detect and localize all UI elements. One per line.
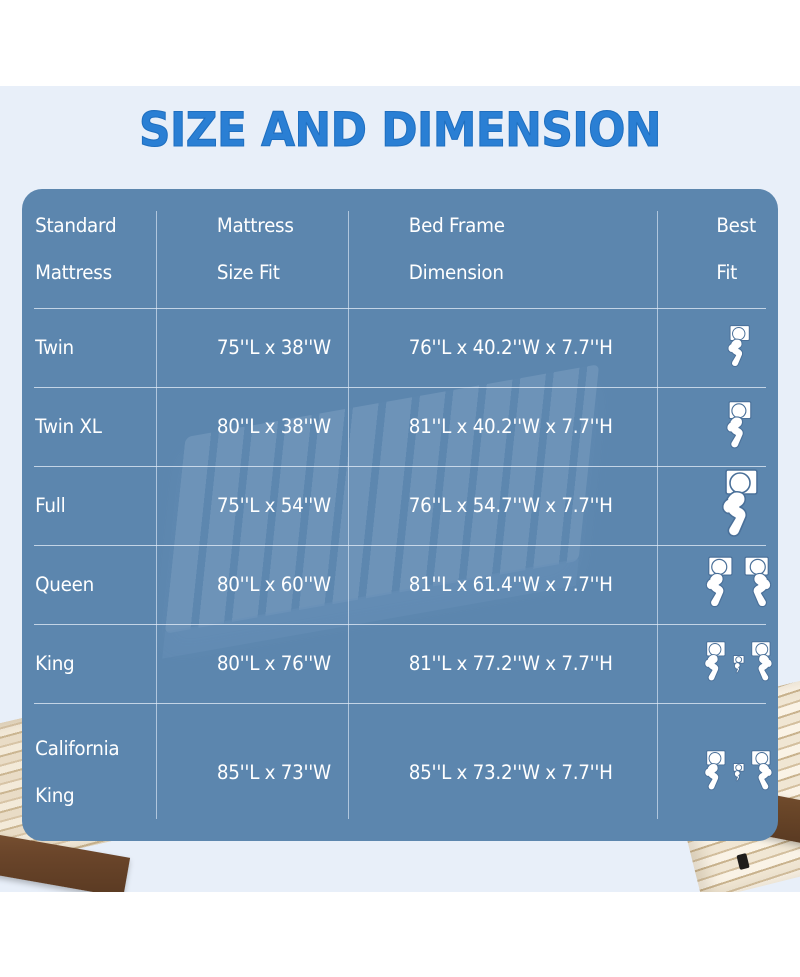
cell-standard-mattress: Twin XL bbox=[22, 387, 189, 466]
one-adult-sleeper-icon bbox=[699, 401, 778, 453]
cell-mattress-size-fit: 80''L x 76''W bbox=[200, 624, 379, 703]
cell-standard-mattress: Full bbox=[22, 466, 189, 545]
adult-sleeper-icon bbox=[699, 629, 730, 697]
column-header-line2: Mattress bbox=[35, 259, 116, 286]
column-header-2: Bed FrameDimension bbox=[390, 189, 680, 308]
cell-standard-mattress: Queen bbox=[22, 545, 189, 624]
adult-sleeper-icon bbox=[739, 549, 778, 619]
cell-bed-frame-dimension: 81''L x 77.2''W x 7.7''H bbox=[390, 624, 680, 703]
mattress-name-line2: King bbox=[35, 782, 119, 809]
cell-standard-mattress: Twin bbox=[22, 308, 189, 387]
cell-best-fit bbox=[699, 545, 778, 624]
cell-bed-frame-dimension: 76''L x 40.2''W x 7.7''H bbox=[390, 308, 680, 387]
adult-sleeper-icon bbox=[713, 469, 765, 543]
bed-frame-dimension-value: 76''L x 54.7''W x 7.7''H bbox=[409, 492, 613, 519]
baby-sleeper-icon bbox=[731, 758, 746, 786]
page-title: SIZE AND DIMENSION bbox=[28, 105, 772, 157]
cell-standard-mattress: King bbox=[22, 624, 189, 703]
cell-bed-frame-dimension: 81''L x 40.2''W x 7.7''H bbox=[390, 387, 680, 466]
bed-frame-dimension-value: 76''L x 40.2''W x 7.7''H bbox=[409, 334, 613, 361]
bed-frame-dimension-value: 81''L x 77.2''W x 7.7''H bbox=[409, 650, 613, 677]
cell-bed-frame-dimension: 85''L x 73.2''W x 7.7''H bbox=[390, 703, 680, 841]
column-header-3: BestFit bbox=[699, 189, 773, 308]
cell-best-fit bbox=[699, 387, 778, 466]
mattress-name: Twin XL bbox=[35, 413, 101, 440]
two-adults-and-baby-sleepers-icon bbox=[699, 738, 778, 806]
cell-mattress-size-fit: 80''L x 60''W bbox=[200, 545, 379, 624]
mattress-size-value: 85''L x 73''W bbox=[217, 759, 331, 786]
column-header-line2: Size Fit bbox=[217, 259, 294, 286]
bed-frame-dimension-value: 85''L x 73.2''W x 7.7''H bbox=[409, 759, 613, 786]
bed-frame-dimension-value: 81''L x 61.4''W x 7.7''H bbox=[409, 571, 613, 598]
column-header-line1: Mattress bbox=[217, 212, 294, 239]
mattress-name: Full bbox=[35, 492, 65, 519]
mattress-name: Queen bbox=[35, 571, 94, 598]
column-header-line2: Dimension bbox=[409, 259, 505, 286]
mattress-size-value: 80''L x 38''W bbox=[217, 413, 331, 440]
cell-bed-frame-dimension: 76''L x 54.7''W x 7.7''H bbox=[390, 466, 680, 545]
adult-sleeper-icon bbox=[699, 738, 730, 806]
bed-frame-dimension-value: 81''L x 40.2''W x 7.7''H bbox=[409, 413, 613, 440]
mattress-name: California bbox=[35, 735, 119, 762]
column-header-line1: Best bbox=[716, 212, 755, 239]
adult-sleeper-icon bbox=[699, 549, 738, 619]
two-adults-and-baby-sleepers-icon bbox=[699, 629, 778, 697]
cell-best-fit bbox=[699, 624, 778, 703]
column-header-line1: Standard bbox=[35, 212, 116, 239]
cell-best-fit bbox=[699, 703, 778, 841]
mattress-name: King bbox=[35, 650, 74, 677]
column-header-1: MattressSize Fit bbox=[200, 189, 379, 308]
adult-sleeper-icon bbox=[747, 738, 778, 806]
one-adult-sleeper-icon bbox=[699, 469, 778, 543]
two-adult-sleepers-icon bbox=[699, 549, 778, 619]
adult-sleeper-icon bbox=[722, 325, 754, 371]
mattress-size-value: 75''L x 38''W bbox=[217, 334, 331, 361]
cell-mattress-size-fit: 85''L x 73''W bbox=[200, 703, 379, 841]
size-dimension-table: StandardMattressMattressSize FitBed Fram… bbox=[22, 189, 778, 841]
column-header-line2: Fit bbox=[716, 259, 755, 286]
column-header-0: StandardMattress bbox=[22, 189, 189, 308]
cell-best-fit bbox=[699, 466, 778, 545]
cell-mattress-size-fit: 80''L x 38''W bbox=[200, 387, 379, 466]
cell-best-fit bbox=[699, 308, 778, 387]
cell-mattress-size-fit: 75''L x 38''W bbox=[200, 308, 379, 387]
size-dimension-table-card: StandardMattressMattressSize FitBed Fram… bbox=[22, 189, 778, 841]
cell-bed-frame-dimension: 81''L x 61.4''W x 7.7''H bbox=[390, 545, 680, 624]
infographic-page: SIZE AND DIMENSION StandardMattressMattr… bbox=[0, 0, 800, 977]
one-adult-sleeper-icon bbox=[699, 325, 778, 371]
mattress-size-value: 80''L x 60''W bbox=[217, 571, 331, 598]
mattress-size-value: 80''L x 76''W bbox=[217, 650, 331, 677]
cell-standard-mattress: CaliforniaKing bbox=[22, 703, 189, 841]
adult-sleeper-icon bbox=[747, 629, 778, 697]
adult-sleeper-icon bbox=[720, 401, 756, 453]
mattress-size-value: 75''L x 54''W bbox=[217, 492, 331, 519]
baby-sleeper-icon bbox=[731, 650, 746, 678]
cell-mattress-size-fit: 75''L x 54''W bbox=[200, 466, 379, 545]
slat-clip-icon bbox=[736, 853, 749, 870]
mattress-name: Twin bbox=[35, 334, 74, 361]
column-header-line1: Bed Frame bbox=[409, 212, 505, 239]
